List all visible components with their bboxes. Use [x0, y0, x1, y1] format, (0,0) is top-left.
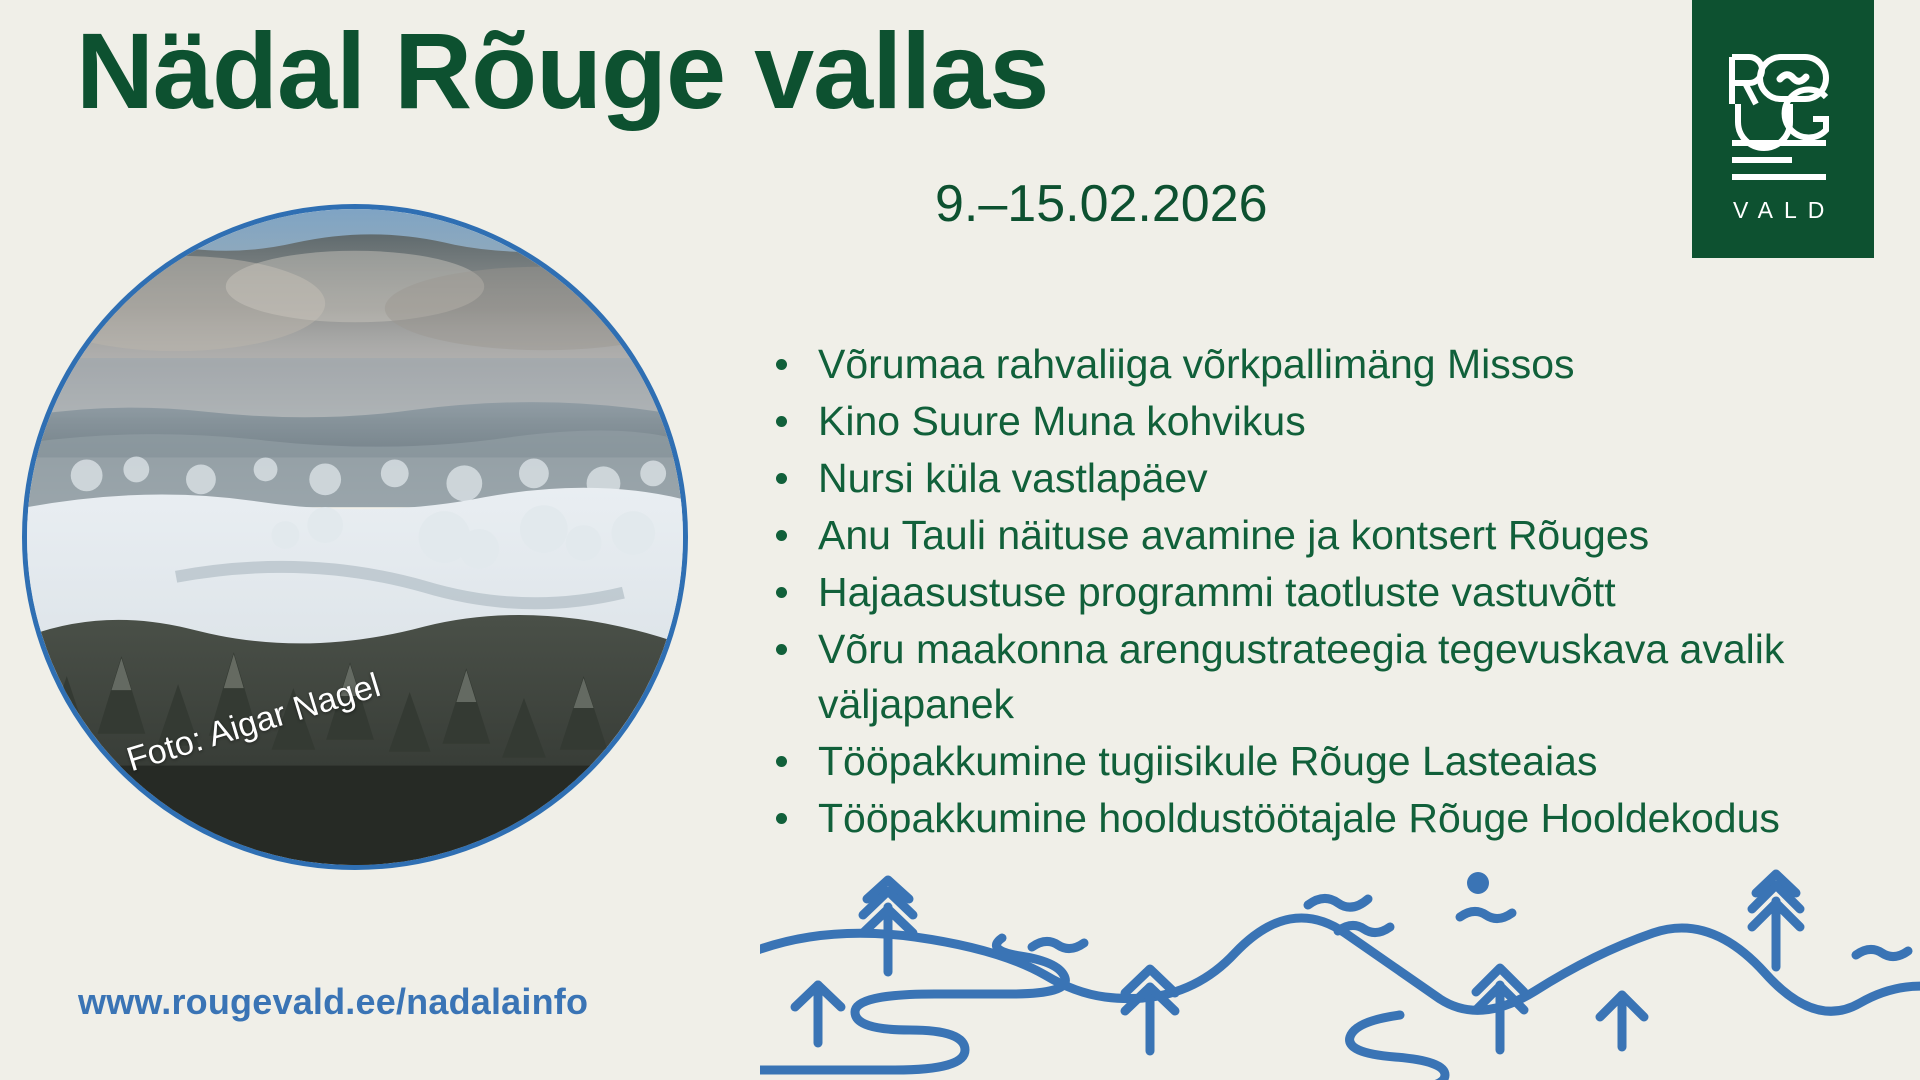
list-item-label: Tööpakkumine tugiisikule Rõuge Lasteaias — [818, 738, 1597, 784]
list-item: Anu Tauli näituse avamine ja kontsert Rõ… — [772, 508, 1912, 563]
list-item-label: Võru maakonna arengustrateegia tegevuska… — [818, 626, 1784, 727]
list-item: Tööpakkumine hooldustöötajale Rõuge Hool… — [772, 791, 1912, 846]
bullet-icon — [776, 756, 787, 767]
list-item-label: Võrumaa rahvaliiga võrkpallimäng Missos — [818, 341, 1575, 387]
sun-dot — [1467, 872, 1489, 894]
list-item-label: Nursi küla vastlapäev — [818, 455, 1208, 501]
list-item: Kino Suure Muna kohvikus — [772, 394, 1912, 449]
bullet-icon — [776, 530, 787, 541]
date-range: 9.–15.02.2026 — [935, 178, 1268, 230]
bullet-icon — [776, 473, 787, 484]
rouge-vald-logo[interactable]: VALD — [1692, 0, 1874, 258]
page-title: Nädal Rõuge vallas — [76, 14, 1048, 127]
bullet-icon — [776, 644, 787, 655]
event-list: Võrumaa rahvaliiga võrkpallimäng Missos … — [772, 337, 1912, 848]
bullet-icon — [776, 416, 787, 427]
list-item: Võru maakonna arengustrateegia tegevuska… — [772, 622, 1912, 732]
poster-canvas: Nädal Rõuge vallas 9.–15.02.2026 — [0, 0, 1920, 1080]
list-item: Hajaasustuse programmi taotluste vastuvõ… — [772, 565, 1912, 620]
list-item-label: Hajaasustuse programmi taotluste vastuvõ… — [818, 569, 1616, 615]
svg-text:VALD: VALD — [1733, 197, 1835, 223]
bullet-icon — [776, 813, 787, 824]
bullet-icon — [776, 587, 787, 598]
list-item-label: Tööpakkumine hooldustöötajale Rõuge Hool… — [818, 795, 1780, 841]
list-item-label: Kino Suure Muna kohvikus — [818, 398, 1306, 444]
website-url[interactable]: www.rougevald.ee/nadalainfo — [78, 981, 588, 1023]
landscape-illustration — [760, 855, 1920, 1080]
winter-landscape-photo — [22, 204, 688, 870]
list-item: Nursi küla vastlapäev — [772, 451, 1912, 506]
bullet-icon — [776, 359, 787, 370]
list-item: Võrumaa rahvaliiga võrkpallimäng Missos — [772, 337, 1912, 392]
list-item: Tööpakkumine tugiisikule Rõuge Lasteaias — [772, 734, 1912, 789]
list-item-label: Anu Tauli näituse avamine ja kontsert Rõ… — [818, 512, 1649, 558]
